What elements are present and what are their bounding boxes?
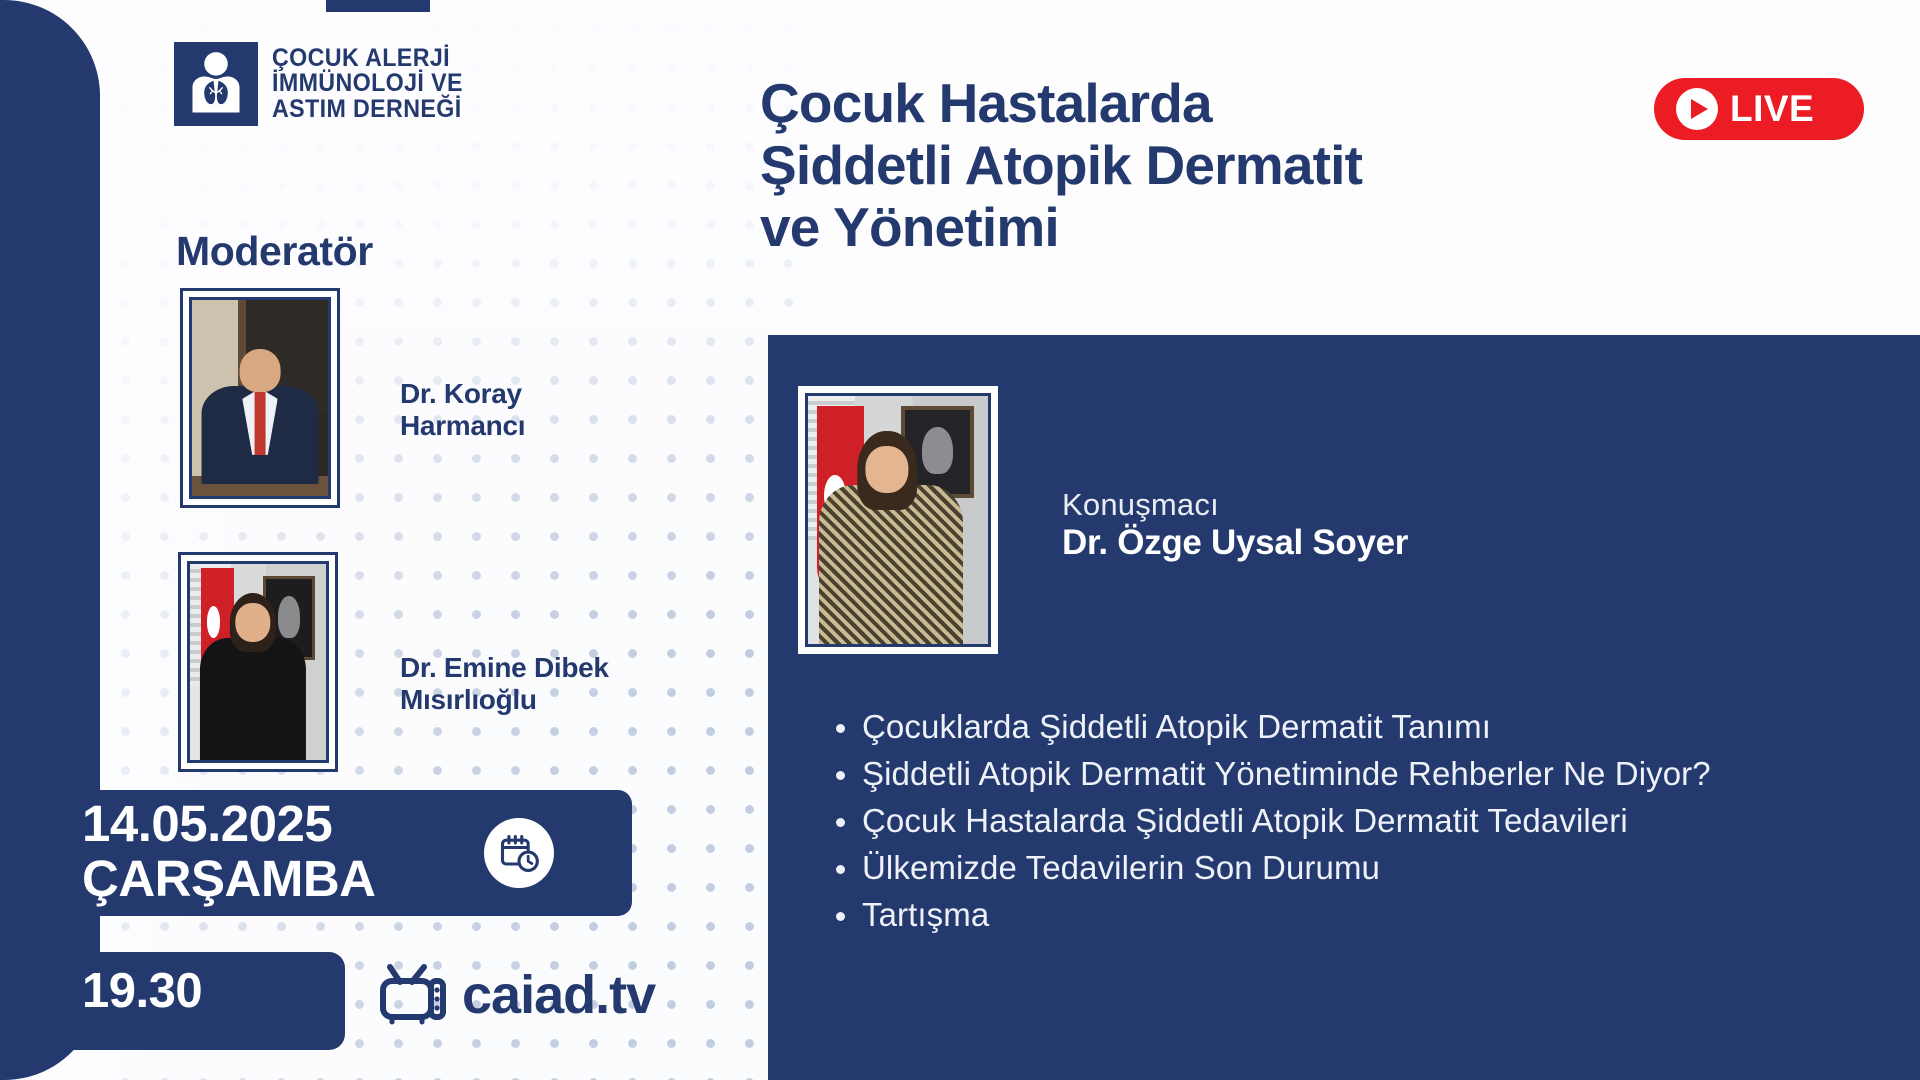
moderator-name-1-line1: Dr. Koray xyxy=(400,378,522,409)
play-icon xyxy=(1676,88,1718,130)
moderator-photo-koray xyxy=(180,288,340,508)
logo-line-2: İMMÜNOLOJİ VE xyxy=(272,71,463,97)
event-weekday: ÇARŞAMBA xyxy=(82,850,375,907)
moderator-name-1: Dr. Koray Harmancı xyxy=(400,378,640,443)
speaker-role-label: Konuşmacı xyxy=(1062,487,1219,523)
logo-line-3: ASTIM DERNEĞİ xyxy=(272,97,463,123)
event-date: 14.05.2025 xyxy=(82,795,332,852)
page-title: Çocuk Hastalarda Şiddetli Atopik Dermati… xyxy=(760,72,1760,258)
list-item: Çocuk Hastalarda Şiddetli Atopik Dermati… xyxy=(862,800,1902,842)
television-icon xyxy=(378,962,450,1028)
logo-wordmark: ÇOCUK ALERJİ İMMÜNOLOJİ VE ASTIM DERNEĞİ xyxy=(272,46,463,123)
list-item: Çocuklarda Şiddetli Atopik Dermatit Tanı… xyxy=(862,706,1902,748)
title-line-2: Şiddetli Atopik Dermatit xyxy=(760,134,1760,196)
moderator-heading: Moderatör xyxy=(176,228,373,275)
speaker-photo-ozge xyxy=(798,386,998,654)
calendar-clock-glyph xyxy=(497,831,541,875)
topic-list: Çocuklarda Şiddetli Atopik Dermatit Tanı… xyxy=(828,706,1902,941)
moderator-photo-emine xyxy=(178,552,338,772)
title-line-3: ve Yönetimi xyxy=(760,196,1760,258)
poster-canvas: ÇOCUK ALERJİ İMMÜNOLOJİ VE ASTIM DERNEĞİ… xyxy=(0,0,1920,1080)
list-item: Şiddetli Atopik Dermatit Yönetiminde Reh… xyxy=(862,753,1902,795)
moderator-name-2-line1: Dr. Emine Dibek xyxy=(400,652,609,683)
event-date-text: 14.05.2025 ÇARŞAMBA xyxy=(82,796,502,906)
speaker-name: Dr. Özge Uysal Soyer xyxy=(1062,523,1408,563)
channel-site-label: caiad.tv xyxy=(462,964,655,1026)
portrait-illustration xyxy=(808,396,988,644)
portrait-illustration xyxy=(192,300,328,496)
live-badge[interactable]: LIVE xyxy=(1654,78,1864,140)
live-label: LIVE xyxy=(1730,88,1814,130)
title-line-1: Çocuk Hastalarda xyxy=(760,72,1760,134)
left-navy-band xyxy=(0,0,100,1080)
moderator-name-2: Dr. Emine Dibek Mısırlıoğlu xyxy=(400,652,690,717)
event-time: 19.30 xyxy=(82,963,202,1019)
moderator-name-1-line2: Harmancı xyxy=(400,410,525,441)
lungs-child-logo-icon xyxy=(174,42,258,126)
channel-row[interactable]: caiad.tv xyxy=(378,962,655,1028)
top-navy-tab xyxy=(326,0,430,12)
portrait-illustration xyxy=(190,564,326,760)
list-item: Tartışma xyxy=(862,894,1902,936)
association-logo: ÇOCUK ALERJİ İMMÜNOLOJİ VE ASTIM DERNEĞİ xyxy=(174,42,477,126)
list-item: Ülkemizde Tedavilerin Son Durumu xyxy=(862,847,1902,889)
calendar-clock-icon xyxy=(484,818,554,888)
logo-line-1: ÇOCUK ALERJİ xyxy=(272,46,463,72)
moderator-name-2-line2: Mısırlıoğlu xyxy=(400,684,537,715)
